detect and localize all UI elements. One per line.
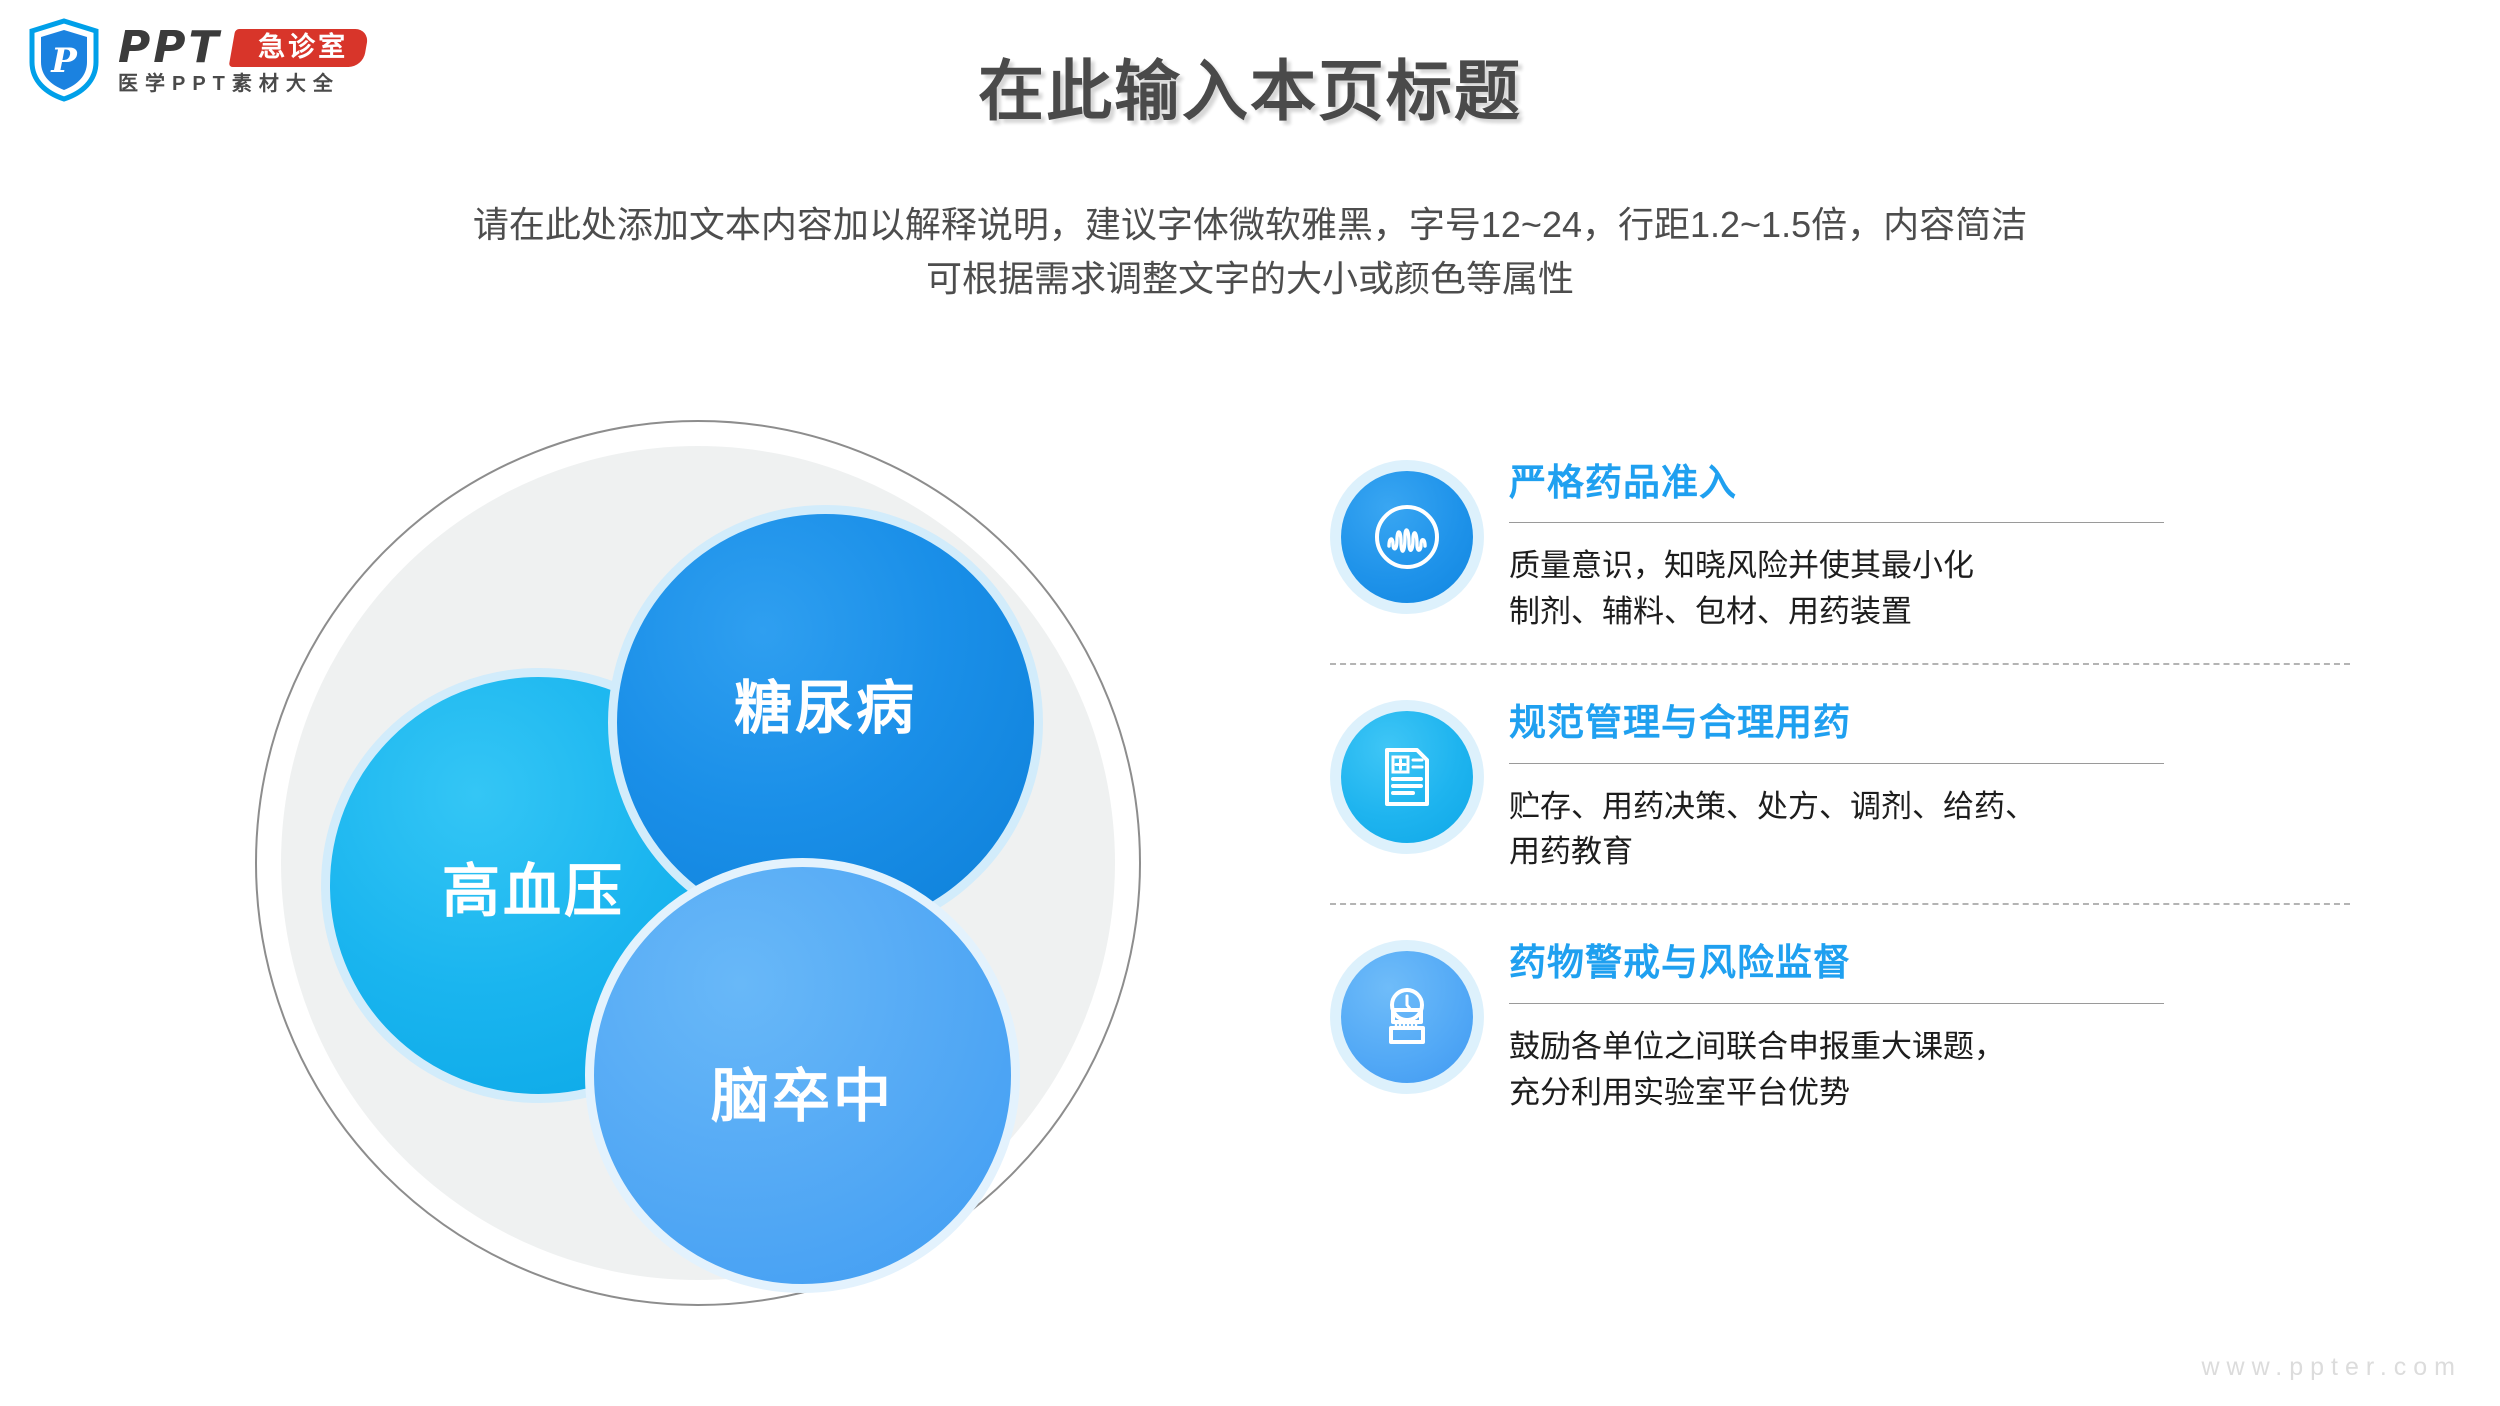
- subtitle-line-1: 请在此处添加文本内容加以解释说明，建议字体微软雅黑，字号12~24，行距1.2~…: [0, 198, 2500, 252]
- page-subtitle: 请在此处添加文本内容加以解释说明，建议字体微软雅黑，字号12~24，行距1.2~…: [0, 198, 2500, 306]
- list-divider: [1330, 663, 2350, 665]
- venn-bubble-label: 糖尿病: [734, 661, 917, 745]
- list-item-description: 质量意识，知晓风险并使其最小化 制剂、辅料、包材、用药装置: [1509, 543, 2350, 635]
- site-watermark: www.ppter.com: [2201, 1353, 2462, 1382]
- pulse-wave-icon: [1341, 471, 1473, 603]
- description-line-1: 鼓励各单位之间联合申报重大课题，: [1509, 1024, 2350, 1070]
- venn-bubble-label: 高血压: [442, 844, 625, 928]
- list-item-heading: 药物警戒与风险监督: [1509, 941, 2350, 985]
- list-item-rule: [1509, 763, 2164, 764]
- list-item-description: 鼓励各单位之间联合申报重大课题， 充分利用实验室平台优势: [1509, 1024, 2350, 1116]
- description-line-1: 贮存、用药决策、处方、调剂、给药、: [1509, 784, 2350, 830]
- list-item[interactable]: 严格药品准入 质量意识，知晓风险并使其最小化 制剂、辅料、包材、用药装置: [1330, 455, 2350, 635]
- venn-diagram: 糖尿病 高血压 脑卒中: [255, 420, 1145, 1310]
- weighing-scale-icon: [1341, 951, 1473, 1083]
- prescription-document-icon: [1341, 711, 1473, 843]
- venn-bubble-label: 脑卒中: [711, 1049, 894, 1133]
- list-item-description: 贮存、用药决策、处方、调剂、给药、 用药教育: [1509, 784, 2350, 876]
- description-line-1: 质量意识，知晓风险并使其最小化: [1509, 543, 2350, 589]
- list-item-heading: 规范管理与合理用药: [1509, 701, 2350, 745]
- list-item-rule: [1509, 1003, 2164, 1004]
- list-divider: [1330, 903, 2350, 905]
- description-line-2: 用药教育: [1509, 829, 2350, 875]
- subtitle-line-2: 可根据需求调整文字的大小或颜色等属性: [0, 252, 2500, 306]
- list-item-heading: 严格药品准入: [1509, 461, 2350, 505]
- description-line-2: 制剂、辅料、包材、用药装置: [1509, 589, 2350, 635]
- feature-list: 严格药品准入 质量意识，知晓风险并使其最小化 制剂、辅料、包材、用药装置 规范管…: [1330, 455, 2350, 1115]
- list-item[interactable]: 药物警戒与风险监督 鼓励各单位之间联合申报重大课题， 充分利用实验室平台优势: [1330, 935, 2350, 1115]
- list-item[interactable]: 规范管理与合理用药 贮存、用药决策、处方、调剂、给药、 用药教育: [1330, 695, 2350, 875]
- page-title: 在此输入本页标题: [0, 38, 2500, 134]
- description-line-2: 充分利用实验室平台优势: [1509, 1070, 2350, 1116]
- venn-bubble-stroke[interactable]: 脑卒中: [585, 858, 1020, 1293]
- list-item-rule: [1509, 522, 2164, 523]
